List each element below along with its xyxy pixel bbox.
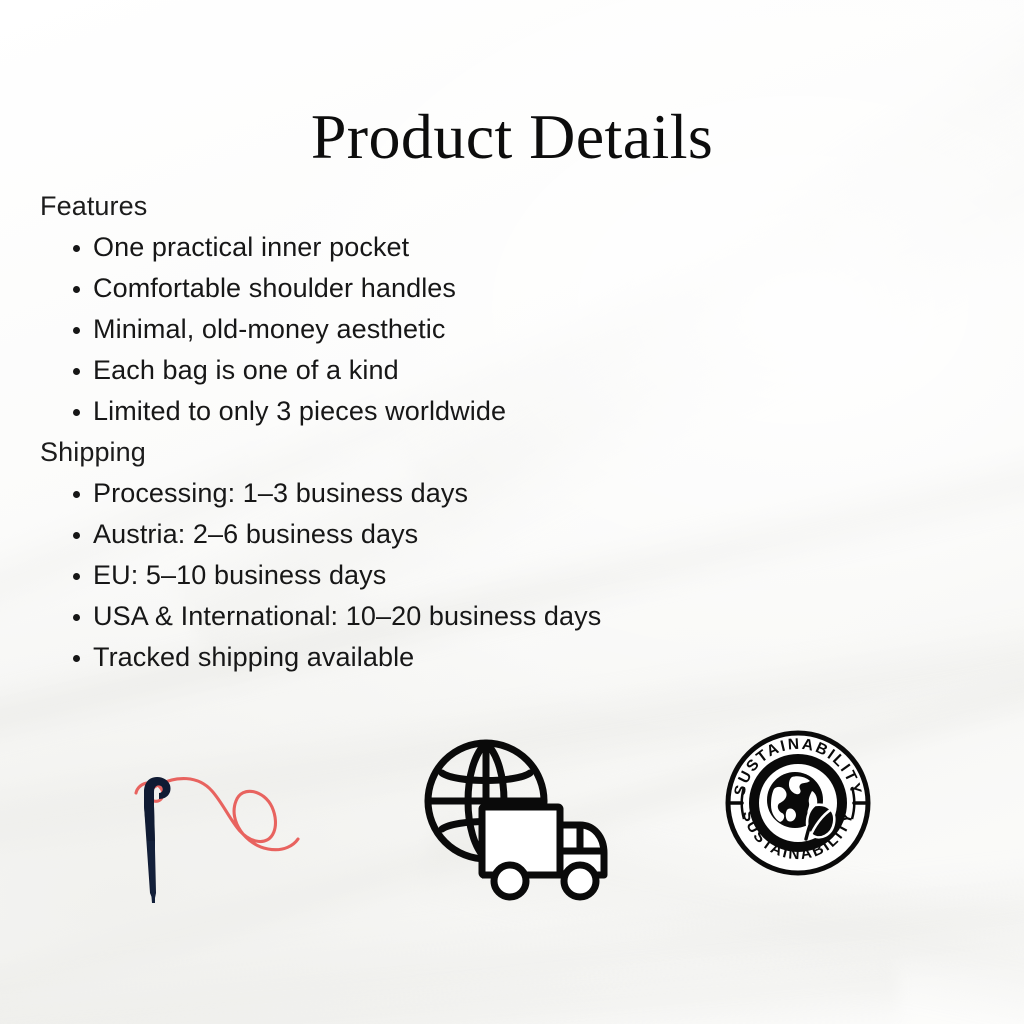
list-item-label: Minimal, old-money aesthetic <box>93 314 445 344</box>
page-title: Product Details <box>0 105 1024 169</box>
list-item: EU: 5–10 business days <box>40 555 860 596</box>
list-item-label: EU: 5–10 business days <box>93 560 386 590</box>
feature-icon-row: SUSTAINABILITY SUSTAINABILITY <box>0 715 1024 915</box>
list-item: Processing: 1–3 business days <box>40 473 860 514</box>
list-item-label: Limited to only 3 pieces worldwide <box>93 396 506 426</box>
list-item: Each bag is one of a kind <box>40 350 860 391</box>
thread-path <box>136 779 298 850</box>
needle-and-thread-icon <box>128 745 328 905</box>
globe-delivery-truck-icon <box>418 733 618 903</box>
product-details-page: Product Details Features One practical i… <box>0 0 1024 1024</box>
shipping-list: Processing: 1–3 business days Austria: 2… <box>40 473 860 678</box>
section-heading-shipping: Shipping <box>40 432 860 473</box>
needle-shape <box>144 777 171 903</box>
list-item: Austria: 2–6 business days <box>40 514 860 555</box>
bullet-dot-icon <box>73 327 80 334</box>
list-item: USA & International: 10–20 business days <box>40 596 860 637</box>
bullet-dot-icon <box>73 573 80 580</box>
bullet-dot-icon <box>73 491 80 498</box>
list-item: One practical inner pocket <box>40 227 860 268</box>
list-item-label: Processing: 1–3 business days <box>93 478 468 508</box>
product-details-body: Features One practical inner pocket Comf… <box>40 186 860 678</box>
delivery-truck-shape <box>482 807 604 897</box>
list-item: Limited to only 3 pieces worldwide <box>40 391 860 432</box>
list-item-label: Austria: 2–6 business days <box>93 519 418 549</box>
section-features: Features One practical inner pocket Comf… <box>40 186 860 432</box>
list-item-label: Tracked shipping available <box>93 642 414 672</box>
list-item: Minimal, old-money aesthetic <box>40 309 860 350</box>
bullet-dot-icon <box>73 286 80 293</box>
bullet-dot-icon <box>73 614 80 621</box>
list-item-label: One practical inner pocket <box>93 232 409 262</box>
list-item: Tracked shipping available <box>40 637 860 678</box>
list-item: Comfortable shoulder handles <box>40 268 860 309</box>
badge-leaf-shape <box>806 805 834 839</box>
section-heading-features: Features <box>40 186 860 227</box>
list-item-label: Each bag is one of a kind <box>93 355 399 385</box>
page-content: Product Details Features One practical i… <box>0 0 1024 1024</box>
bullet-dot-icon <box>73 368 80 375</box>
bullet-dot-icon <box>73 409 80 416</box>
bullet-dot-icon <box>73 245 80 252</box>
bullet-dot-icon <box>73 532 80 539</box>
list-item-label: Comfortable shoulder handles <box>93 273 456 303</box>
bullet-dot-icon <box>73 655 80 662</box>
sustainability-badge-icon: SUSTAINABILITY SUSTAINABILITY <box>722 727 882 887</box>
section-shipping: Shipping Processing: 1–3 business days A… <box>40 432 860 678</box>
list-item-label: USA & International: 10–20 business days <box>93 601 601 631</box>
features-list: One practical inner pocket Comfortable s… <box>40 227 860 432</box>
